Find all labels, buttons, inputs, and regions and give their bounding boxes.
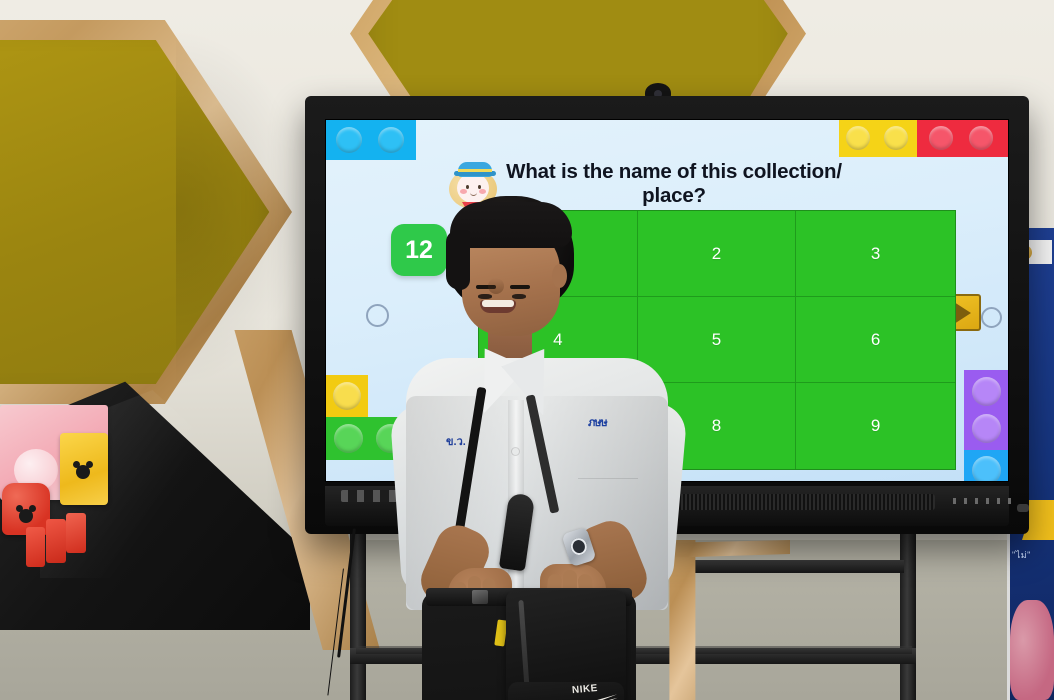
prev-circle-icon[interactable]: [366, 304, 389, 327]
grid-tile[interactable]: 9: [796, 383, 955, 469]
mickey-red-cup: [46, 519, 66, 563]
grid-tile-number: 2: [712, 244, 721, 264]
next-circle-icon[interactable]: [981, 307, 1002, 328]
mickey-icon: [19, 509, 33, 523]
lego-bottom-purple: [964, 370, 1008, 450]
nike-logo: NIKE: [564, 686, 620, 700]
grid-tile-number: 9: [871, 416, 880, 436]
lego-bottom-yellow: [326, 375, 368, 417]
grid-tile-number: 3: [871, 244, 880, 264]
nose: [488, 278, 504, 294]
hair-side: [446, 230, 470, 290]
name-embroidery: ข.ว.: [446, 432, 466, 450]
merchandise-display: [0, 405, 130, 590]
ear: [552, 264, 567, 288]
lego-top-left: [326, 120, 416, 160]
grid-tile-number: 6: [871, 330, 880, 350]
mickey-yellow-container: [60, 433, 108, 505]
screenshot-root: "ไม่": [0, 0, 1054, 700]
status-leds: [953, 498, 1011, 504]
mouth: [480, 300, 516, 313]
mickey-icon: [76, 465, 90, 479]
grid-tile[interactable]: 3: [796, 211, 955, 297]
nike-wordmark: NIKE: [572, 683, 599, 696]
school-logo-embroidery: ภษษ: [588, 418, 624, 438]
stand-leg-left: [350, 534, 366, 700]
ir-receiver: [1017, 504, 1029, 512]
grid-tile-number: 8: [712, 416, 721, 436]
student-presenter: ภษษ ข.ว. NIKE: [400, 196, 680, 700]
shirt-button: [512, 448, 519, 455]
poster-text: "ไม่": [1012, 548, 1052, 562]
belt-buckle: [472, 590, 488, 604]
grid-tile[interactable]: 6: [796, 297, 955, 383]
lego-top-red: [917, 120, 1008, 157]
mickey-red-cup: [66, 513, 86, 553]
mickey-red-cup: [26, 527, 45, 567]
play-triangle-icon: [954, 302, 971, 324]
grid-tile-number: 5: [712, 330, 721, 350]
stand-leg-right: [900, 534, 916, 700]
lego-bottom-cyan: [964, 450, 1008, 481]
lego-top-yellow: [839, 120, 917, 157]
poster-character: [1010, 600, 1054, 700]
